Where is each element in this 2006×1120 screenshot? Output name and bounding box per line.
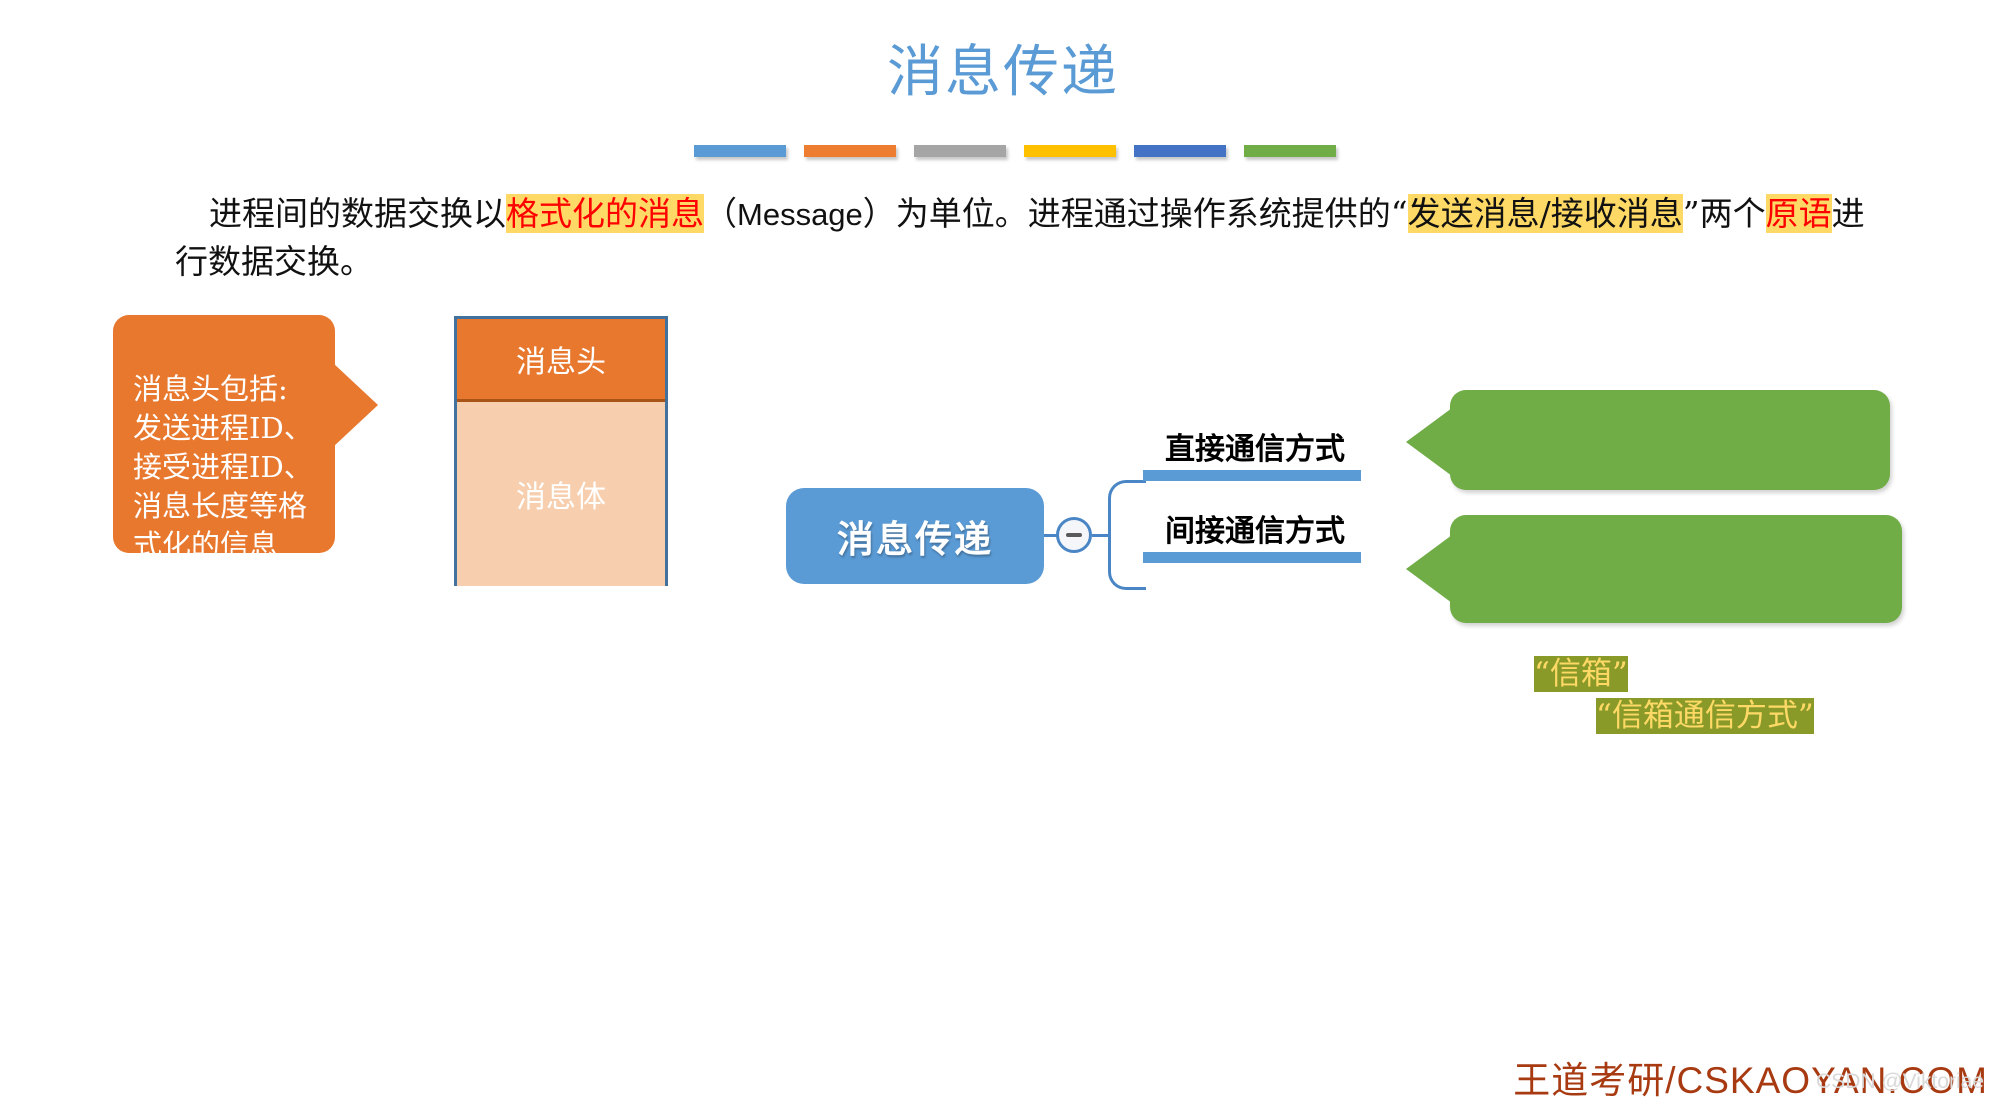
callout-tail-icon bbox=[1406, 535, 1452, 603]
body-paragraph: 进程间的数据交换以格式化的消息（Message）为单位。进程通过操作系统提供的“… bbox=[175, 190, 1875, 285]
callout-tail-icon bbox=[1406, 408, 1452, 476]
message-header-callout-text: 消息头包括: 发送进程ID、 接受进程ID、 消息长度等格 式化的信息 bbox=[133, 372, 313, 562]
indirect-communication-callout-text: 通过“信箱”间接地通信。 因此又称“信箱通信方式” bbox=[1472, 656, 1814, 734]
page-title: 消息传递 bbox=[0, 42, 2006, 104]
title-accent-bar-5 bbox=[1244, 145, 1336, 157]
indirect-communication-callout: 通过“信箱”间接地通信。 因此又称“信箱通信方式” bbox=[1450, 515, 1902, 623]
para-seg-5: ）为单位。进程通过操作系统提供的 bbox=[863, 194, 1391, 233]
title-accent-bars bbox=[694, 145, 1336, 157]
title-accent-bar-4 bbox=[1134, 145, 1226, 157]
para-seg-3: （ bbox=[704, 194, 737, 233]
title-accent-bar-1 bbox=[804, 145, 896, 157]
para-seg-9: 两个 bbox=[1700, 194, 1766, 233]
message-head-cell: 消息头 bbox=[457, 319, 665, 402]
mindmap-bracket bbox=[1108, 480, 1146, 590]
mindmap-branch-label: 间接通信方式 bbox=[1165, 506, 1345, 550]
mindmap-branch-underline bbox=[1143, 552, 1361, 563]
mindmap-root-node[interactable]: 消息传递 bbox=[786, 488, 1044, 584]
minus-circle-icon[interactable] bbox=[1056, 517, 1092, 553]
para-seg-6: “ bbox=[1391, 194, 1408, 233]
callout-text-part: 通过 bbox=[1472, 656, 1534, 692]
message-structure-box: 消息头 消息体 bbox=[454, 316, 668, 586]
mindmap-branch-direct[interactable]: 直接通信方式 bbox=[1143, 470, 1361, 481]
title-accent-bar-0 bbox=[694, 145, 786, 157]
para-highlight-formatted-message: 格式化的消息 bbox=[506, 194, 704, 233]
title-accent-bar-3 bbox=[1024, 145, 1116, 157]
csdn-watermark: CSDN @Viktoriae bbox=[1816, 1070, 1984, 1094]
callout-tail-icon bbox=[333, 363, 378, 447]
title-accent-bar-2 bbox=[914, 145, 1006, 157]
para-seg-8: ” bbox=[1683, 194, 1700, 233]
callout-highlight-mailbox: “信箱” bbox=[1534, 656, 1628, 692]
para-seg-1: 进程间的数据交换以 bbox=[209, 194, 506, 233]
callout-highlight-mailbox-mode: “信箱通信方式” bbox=[1596, 698, 1814, 734]
minus-glyph bbox=[1066, 533, 1082, 537]
mindmap-branch-label: 直接通信方式 bbox=[1165, 424, 1345, 468]
para-highlight-primitive: 原语 bbox=[1766, 194, 1832, 233]
para-highlight-send-receive: 发送消息/接收消息 bbox=[1408, 194, 1683, 233]
message-body-cell: 消息体 bbox=[457, 402, 665, 586]
mindmap-branch-underline bbox=[1143, 470, 1361, 481]
para-seg-message-latin: Message bbox=[737, 197, 863, 232]
mindmap-branch-indirect[interactable]: 间接通信方式 bbox=[1143, 552, 1361, 563]
message-header-callout: 消息头包括: 发送进程ID、 接受进程ID、 消息长度等格 式化的信息 bbox=[113, 315, 335, 553]
direct-communication-callout: 消息发送进程要指明接收进程的ID bbox=[1450, 390, 1890, 490]
slide-canvas: 消息传递 进程间的数据交换以格式化的消息（Message）为单位。进程通过操作系… bbox=[0, 0, 2006, 1120]
